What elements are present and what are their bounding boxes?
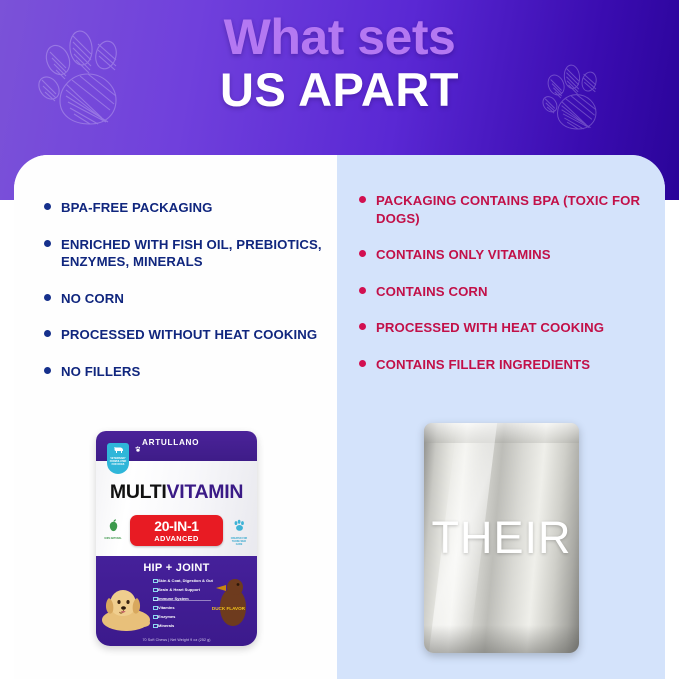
list-item-label: BPA-FREE PACKAGING [61,200,213,215]
paw-quality-text: CREATED FOR THOSE WHO CARE [230,538,248,546]
list-item-label: CONTAINS ONLY VITAMINS [376,247,551,262]
feature-list-theirs: PACKAGING CONTAINS BPA (TOXIC FOR DOGS) … [359,192,659,373]
benefit-list: Skin & Coat, Digestion & Gut Brain & Hea… [153,578,213,606]
list-item: NO CORN [44,290,324,308]
duck-icon [213,576,253,633]
bullet-dot-icon [44,367,51,374]
badge-number: 20-IN-1 [154,518,199,534]
pouch-lower-panel: HIP + JOINT [96,556,257,646]
golden-retriever-dog-icon [100,574,152,637]
bullet-dot-icon [44,240,51,247]
list-item: Minerals [153,623,175,628]
panel-theirs: PACKAGING CONTAINS BPA (TOXIC FOR DOGS) … [337,155,665,679]
list-item-label: PROCESSED WITHOUT HEAT COOKING [61,327,317,342]
list-item-label: CONTAINS FILLER INGREDIENTS [376,357,590,372]
list-item: NO FILLERS [44,363,324,381]
list-item: Vitamins [153,605,175,610]
bullet-dot-icon [44,294,51,301]
bullet-dot-icon [359,287,366,294]
dog-silhouette-icon [113,446,124,455]
title-line-2: US APART [0,66,679,113]
nutrient-list: Vitamins Enzymes Minerals [153,605,175,633]
product-title-prefix: MULTI [110,481,167,503]
list-item-label: NO CORN [61,291,124,306]
bullet-dot-icon [359,360,366,367]
list-item: CONTAINS FILLER INGREDIENTS [359,356,659,374]
bullet-dot-icon [44,330,51,337]
list-item: PROCESSED WITH HEAT COOKING [359,319,659,337]
paw-print-icon [135,439,141,457]
product-pouch-theirs: THEIR [424,423,579,653]
badge-subtitle: ADVANCED [154,534,199,543]
list-item-label: CONTAINS CORN [376,284,488,299]
bullet-dot-icon [359,250,366,257]
vet-formulated-badge: VETERINARY FORMULATED FOR DOGS [107,443,129,474]
list-item-label: NO FILLERS [61,364,140,379]
competitor-label: THEIR [424,423,579,653]
page-title: What sets US APART [0,12,679,113]
list-item: PACKAGING CONTAINS BPA (TOXIC FOR DOGS) [359,192,659,227]
apple-natural-text: 100% NATURAL [104,538,122,541]
panel-ours: BPA-FREE PACKAGING ENRICHED WITH FISH OI… [14,155,337,679]
product-title: MULTIVITAMIN [96,481,257,504]
product-headline: HIP + JOINT [96,562,257,574]
paw-quality-icon: CREATED FOR THOSE WHO CARE [230,519,248,546]
divider [153,600,211,601]
list-item: CONTAINS ONLY VITAMINS [359,246,659,264]
advanced-badge: 20-IN-1 ADVANCED [130,515,223,546]
apple-natural-icon: 100% NATURAL [104,519,122,541]
flavor-badge: DUCK FLAVOR [212,606,245,612]
list-item-label: ENRICHED WITH FISH OIL, PREBIOTICS, ENZY… [61,237,322,270]
bullet-dot-icon [359,196,366,203]
comparison-card: BPA-FREE PACKAGING ENRICHED WITH FISH OI… [14,155,665,679]
brand-name: ARTULLANO [142,438,199,447]
list-item: ENRICHED WITH FISH OIL, PREBIOTICS, ENZY… [44,236,324,271]
feature-list-ours: BPA-FREE PACKAGING ENRICHED WITH FISH OI… [44,199,324,380]
list-item: PROCESSED WITHOUT HEAT COOKING [44,326,324,344]
title-line-1: What sets [0,12,679,62]
list-item-label: PROCESSED WITH HEAT COOKING [376,320,604,335]
list-item: Enzymes [153,614,175,619]
list-item: BPA-FREE PACKAGING [44,199,324,217]
bullet-dot-icon [44,203,51,210]
product-pouch-ours: ARTULLANO VETERINARY FORMULATED FOR DOGS… [96,431,257,646]
bullet-dot-icon [359,323,366,330]
pouch-footer-text: 70 Soft Chews | Net Weight 9 oz (252 g) [96,638,257,642]
list-item: Brain & Heart Support [153,587,213,592]
list-item-label: PACKAGING CONTAINS BPA (TOXIC FOR DOGS) [376,193,640,226]
product-title-suffix: VITAMIN [167,481,244,503]
vet-badge-text: VETERINARY FORMULATED FOR DOGS [107,457,129,466]
list-item: CONTAINS CORN [359,283,659,301]
list-item: Skin & Coat, Digestion & Gut [153,578,213,583]
